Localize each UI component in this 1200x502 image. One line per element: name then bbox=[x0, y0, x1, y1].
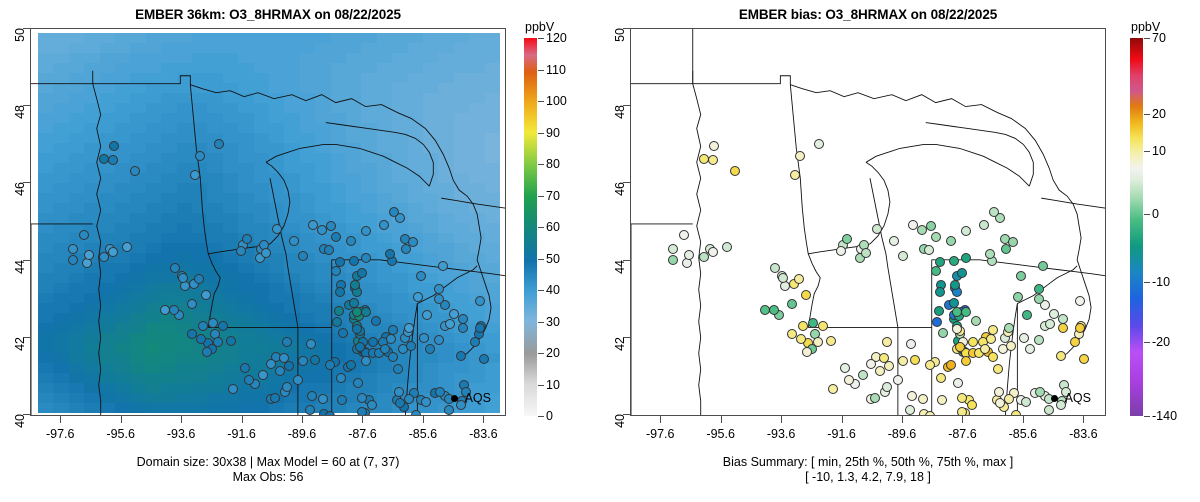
bias-site-marker bbox=[961, 307, 971, 317]
model-site-marker bbox=[355, 342, 365, 352]
model-site-marker bbox=[242, 234, 252, 244]
bias-site-marker bbox=[898, 251, 908, 261]
x-tick-label: -83.6 bbox=[1069, 427, 1098, 441]
model-site-marker bbox=[445, 319, 455, 329]
model-site-marker bbox=[352, 324, 362, 334]
x-tick-label: -91.6 bbox=[827, 427, 856, 441]
colorbar-tick-label: -20 bbox=[1152, 335, 1170, 349]
model-site-marker bbox=[289, 236, 299, 246]
model-site-marker bbox=[361, 253, 371, 263]
model-site-marker bbox=[195, 151, 205, 161]
bias-aqs-legend: AQS bbox=[1051, 391, 1091, 405]
model-site-marker bbox=[422, 310, 432, 320]
model-site-marker bbox=[352, 307, 362, 317]
model-site-marker bbox=[353, 378, 363, 388]
bias-site-marker bbox=[1004, 323, 1014, 333]
x-tick-label: -93.6 bbox=[767, 427, 796, 441]
model-site-marker bbox=[282, 337, 292, 347]
bias-site-marker bbox=[936, 373, 946, 383]
model-site-marker bbox=[458, 323, 468, 333]
colorbar-tick bbox=[538, 164, 544, 165]
bias-site-marker bbox=[910, 355, 920, 365]
model-site-marker bbox=[298, 356, 308, 366]
bias-site-marker bbox=[798, 321, 808, 331]
bias-site-marker bbox=[961, 356, 971, 366]
bias-observation-points bbox=[631, 29, 1105, 415]
x-tick bbox=[362, 416, 363, 423]
bias-site-marker bbox=[875, 366, 885, 376]
colorbar-tick-label: 80 bbox=[546, 157, 560, 171]
model-site-marker bbox=[449, 309, 459, 319]
model-site-marker bbox=[326, 221, 336, 231]
model-site-marker bbox=[336, 373, 346, 383]
model-site-marker bbox=[371, 316, 381, 326]
bias-site-marker bbox=[1006, 341, 1016, 351]
bias-site-marker bbox=[953, 378, 963, 388]
colorbar-tick-label: 0 bbox=[546, 409, 553, 423]
model-site-marker bbox=[346, 236, 356, 246]
bias-site-marker bbox=[961, 253, 971, 263]
bias-site-marker bbox=[842, 234, 852, 244]
model-site-marker bbox=[99, 154, 109, 164]
bias-site-marker bbox=[813, 337, 823, 347]
colorbar-tick bbox=[538, 101, 544, 102]
colorbar-tick-label: 100 bbox=[546, 94, 567, 108]
model-site-marker bbox=[194, 274, 204, 284]
model-site-marker bbox=[270, 393, 280, 403]
bias-site-marker bbox=[1034, 335, 1044, 345]
model-site-marker bbox=[198, 321, 208, 331]
model-site-marker bbox=[389, 207, 399, 217]
x-tick-label: -97.6 bbox=[646, 427, 675, 441]
y-tick-label: 46 bbox=[13, 182, 27, 196]
model-site-marker bbox=[337, 395, 347, 405]
bias-site-marker bbox=[730, 166, 740, 176]
bias-site-marker bbox=[907, 391, 917, 401]
x-tick bbox=[242, 416, 243, 423]
y-tick-label: 46 bbox=[613, 182, 627, 196]
bias-site-marker bbox=[1070, 337, 1080, 347]
colorbar-tick bbox=[1144, 282, 1150, 283]
model-site-marker bbox=[306, 339, 316, 349]
bias-site-marker bbox=[938, 328, 948, 338]
model-caption-line1: Domain size: 30x38 | Max Model = 60 at (… bbox=[0, 455, 536, 470]
colorbar-tick-label: 70 bbox=[1152, 31, 1166, 45]
model-site-marker bbox=[187, 299, 197, 309]
colorbar-tick-label: 20 bbox=[1152, 107, 1166, 121]
bias-site-marker bbox=[1004, 394, 1014, 404]
colorbar-tick bbox=[538, 416, 544, 417]
bias-site-marker bbox=[893, 375, 903, 385]
colorbar-tick-label: 120 bbox=[546, 31, 567, 45]
colorbar-tick bbox=[538, 353, 544, 354]
model-site-marker bbox=[357, 393, 367, 403]
colorbar-tick bbox=[1144, 114, 1150, 115]
model-site-marker bbox=[331, 266, 341, 276]
x-tick-label: -83.6 bbox=[469, 427, 498, 441]
model-site-marker bbox=[393, 364, 403, 374]
model-site-marker bbox=[434, 284, 444, 294]
bias-site-marker bbox=[870, 393, 880, 403]
model-site-marker bbox=[419, 333, 429, 343]
bias-site-marker bbox=[925, 360, 935, 370]
y-tick-label: 50 bbox=[13, 28, 27, 42]
model-site-marker bbox=[475, 323, 485, 333]
x-tick bbox=[423, 416, 424, 423]
model-site-marker bbox=[108, 247, 118, 257]
bias-site-marker bbox=[840, 363, 850, 373]
y-tick-label: 42 bbox=[613, 337, 627, 351]
model-site-marker bbox=[361, 226, 371, 236]
bias-site-marker bbox=[1049, 309, 1059, 319]
model-site-marker bbox=[361, 307, 371, 317]
bias-plot-frame[interactable]: AQS bbox=[630, 28, 1106, 416]
model-aqs-label: AQS bbox=[465, 391, 491, 405]
colorbar-tick bbox=[1144, 151, 1150, 152]
x-tick-label: -97.6 bbox=[46, 427, 75, 441]
model-site-marker bbox=[218, 321, 228, 331]
model-site-marker bbox=[361, 356, 371, 366]
bias-site-marker bbox=[708, 247, 718, 257]
bias-site-marker bbox=[1034, 284, 1044, 294]
bias-site-marker bbox=[818, 321, 828, 331]
model-site-marker bbox=[421, 397, 431, 407]
model-site-marker bbox=[201, 290, 211, 300]
model-observation-points bbox=[31, 29, 505, 415]
model-site-marker bbox=[404, 323, 414, 333]
colorbar-tick-label: 60 bbox=[546, 220, 560, 234]
model-site-marker bbox=[84, 250, 94, 260]
bias-site-marker bbox=[968, 337, 978, 347]
colorbar-tick-label: 70 bbox=[546, 189, 560, 203]
x-tick bbox=[1023, 416, 1024, 423]
bias-site-marker bbox=[950, 280, 960, 290]
bias-site-marker bbox=[778, 273, 788, 283]
bias-site-marker bbox=[985, 249, 995, 259]
model-site-marker bbox=[346, 360, 356, 370]
x-tick-label: -95.6 bbox=[106, 427, 135, 441]
bias-site-marker bbox=[699, 154, 709, 164]
bias-site-marker bbox=[1035, 387, 1045, 397]
colorbar-tick-label: 0 bbox=[1152, 207, 1159, 221]
model-site-marker bbox=[213, 337, 223, 347]
colorbar-tick-label: -140 bbox=[1152, 409, 1177, 423]
bias-site-marker bbox=[932, 317, 942, 327]
model-site-marker bbox=[334, 306, 344, 316]
bias-site-marker bbox=[769, 305, 779, 315]
bias-site-marker bbox=[1079, 354, 1089, 364]
x-tick-label: -89.6 bbox=[288, 427, 317, 441]
bias-site-marker bbox=[1034, 294, 1044, 304]
model-site-marker bbox=[244, 375, 254, 385]
bias-aqs-label: AQS bbox=[1065, 391, 1091, 405]
model-site-marker bbox=[214, 139, 224, 149]
bias-site-marker bbox=[898, 356, 908, 366]
model-site-marker bbox=[470, 337, 480, 347]
colorbar-tick bbox=[1144, 416, 1150, 417]
colorbar-tick bbox=[1144, 214, 1150, 215]
bias-site-marker bbox=[802, 347, 812, 357]
panel-model: EMBER 36km: O3_8HRMAX on 08/22/2025 bbox=[0, 0, 600, 502]
model-site-marker bbox=[282, 382, 292, 392]
colorbar-tick-label: 30 bbox=[546, 315, 560, 329]
model-site-marker bbox=[335, 287, 345, 297]
bias-site-marker bbox=[814, 139, 824, 149]
colorbar-tick bbox=[538, 133, 544, 134]
bias-site-marker bbox=[931, 266, 941, 276]
panel-bias: EMBER bias: O3_8HRMAX on 08/22/2025 bbox=[600, 0, 1200, 502]
model-site-marker bbox=[456, 351, 466, 361]
model-site-marker bbox=[368, 337, 378, 347]
model-site-marker bbox=[406, 341, 416, 351]
bias-site-marker bbox=[924, 245, 934, 255]
x-tick bbox=[842, 416, 843, 423]
y-tick-label: 44 bbox=[613, 260, 627, 274]
model-site-marker bbox=[258, 370, 268, 380]
bias-site-marker bbox=[1016, 271, 1026, 281]
x-tick bbox=[483, 416, 484, 423]
model-site-marker bbox=[293, 375, 303, 385]
bias-site-marker bbox=[955, 342, 965, 352]
aqs-dot-icon bbox=[1051, 395, 1058, 402]
colorbar-tick-label: 20 bbox=[546, 346, 560, 360]
x-tick bbox=[721, 416, 722, 423]
bias-site-marker bbox=[796, 334, 806, 344]
model-site-marker bbox=[68, 255, 78, 265]
bias-site-marker bbox=[1075, 296, 1085, 306]
bias-site-marker bbox=[760, 305, 770, 315]
model-site-marker bbox=[395, 398, 405, 408]
y-tick-label: 40 bbox=[13, 414, 27, 428]
model-site-marker bbox=[404, 394, 414, 404]
model-colorbar-gradient bbox=[524, 38, 537, 416]
x-tick-label: -85.6 bbox=[409, 427, 438, 441]
model-site-marker bbox=[240, 363, 250, 373]
model-site-marker bbox=[335, 257, 345, 267]
model-site-marker bbox=[275, 366, 285, 376]
model-site-marker bbox=[357, 407, 367, 416]
colorbar-tick bbox=[538, 38, 544, 39]
model-site-marker bbox=[434, 335, 444, 345]
bias-site-marker bbox=[794, 274, 804, 284]
bias-site-marker bbox=[989, 207, 999, 217]
bias-site-marker bbox=[988, 352, 998, 362]
model-site-marker bbox=[318, 394, 328, 404]
bias-site-marker bbox=[795, 151, 805, 161]
y-tick-label: 44 bbox=[13, 260, 27, 274]
bias-site-marker bbox=[770, 263, 780, 273]
bias-site-marker bbox=[905, 405, 915, 415]
x-tick bbox=[1083, 416, 1084, 423]
bias-caption-line2: [ -10, 1.3, 4.2, 7.9, 18 ] bbox=[600, 470, 1136, 485]
x-tick bbox=[302, 416, 303, 423]
model-x-axis: -97.6-95.6-93.6-91.6-89.6-87.6-85.6-83.6 bbox=[30, 416, 506, 446]
bias-panel-title: EMBER bias: O3_8HRMAX on 08/22/2025 bbox=[600, 7, 1136, 22]
y-tick-label: 50 bbox=[613, 28, 627, 42]
bias-site-marker bbox=[1021, 397, 1031, 407]
bias-site-marker bbox=[826, 336, 836, 346]
bias-site-marker bbox=[931, 232, 941, 242]
bias-site-marker bbox=[828, 384, 838, 394]
model-site-marker bbox=[475, 296, 485, 306]
colorbar-tick-label: 90 bbox=[546, 126, 560, 140]
bias-colorbar-gradient bbox=[1130, 38, 1143, 416]
bias-site-marker bbox=[787, 299, 797, 309]
x-tick-label: -95.6 bbox=[706, 427, 735, 441]
bias-site-marker bbox=[668, 255, 678, 265]
bias-site-marker bbox=[961, 226, 971, 236]
bias-site-marker bbox=[1025, 344, 1035, 354]
bias-site-marker bbox=[946, 236, 956, 246]
model-site-marker bbox=[349, 256, 359, 266]
bias-site-marker bbox=[679, 230, 689, 240]
bias-site-marker bbox=[1013, 292, 1023, 302]
bias-site-marker bbox=[872, 224, 882, 234]
x-tick-label: -85.6 bbox=[1009, 427, 1038, 441]
colorbar-tick-label: -10 bbox=[1152, 275, 1170, 289]
model-site-marker bbox=[109, 141, 119, 151]
model-y-axis: 404244464850 bbox=[0, 28, 30, 416]
model-site-marker bbox=[170, 263, 180, 273]
model-site-marker bbox=[425, 344, 435, 354]
bias-site-marker bbox=[684, 250, 694, 260]
colorbar-tick bbox=[1144, 38, 1150, 39]
colorbar-tick-label: 10 bbox=[546, 378, 560, 392]
bias-site-marker bbox=[934, 306, 944, 316]
bias-site-marker bbox=[882, 382, 892, 392]
bias-caption: Bias Summary: [ min, 25th %, 50th %, 75t… bbox=[600, 455, 1136, 485]
bias-site-marker bbox=[1058, 314, 1068, 324]
model-site-marker bbox=[435, 387, 445, 397]
bias-site-marker bbox=[935, 257, 945, 267]
model-site-marker bbox=[357, 268, 367, 278]
bias-site-marker bbox=[1008, 237, 1018, 247]
x-tick-label: -91.6 bbox=[227, 427, 256, 441]
x-tick bbox=[60, 416, 61, 423]
y-tick-label: 42 bbox=[13, 337, 27, 351]
bias-site-marker bbox=[1022, 310, 1032, 320]
bias-site-marker bbox=[949, 256, 959, 266]
bias-site-marker bbox=[937, 395, 947, 405]
model-site-marker bbox=[261, 248, 271, 258]
model-site-marker bbox=[394, 387, 404, 397]
colorbar-tick bbox=[538, 385, 544, 386]
model-site-marker bbox=[202, 347, 212, 357]
colorbar-tick bbox=[538, 70, 544, 71]
model-site-marker bbox=[331, 232, 341, 242]
x-tick-label: -93.6 bbox=[167, 427, 196, 441]
x-tick-label: -89.6 bbox=[888, 427, 917, 441]
model-site-marker bbox=[130, 166, 140, 176]
bias-site-marker bbox=[722, 242, 732, 252]
model-site-marker bbox=[160, 305, 170, 315]
x-tick-label: -87.6 bbox=[348, 427, 377, 441]
x-tick bbox=[660, 416, 661, 423]
bias-site-marker bbox=[935, 287, 945, 297]
model-site-marker bbox=[332, 317, 342, 327]
bias-site-marker bbox=[995, 398, 1005, 408]
bias-site-marker bbox=[889, 236, 899, 246]
model-site-marker bbox=[122, 242, 132, 252]
bias-site-marker bbox=[926, 221, 936, 231]
model-site-marker bbox=[226, 336, 236, 346]
colorbar-tick bbox=[538, 259, 544, 260]
bias-site-marker bbox=[906, 339, 916, 349]
model-aqs-legend: AQS bbox=[451, 391, 491, 405]
model-site-marker bbox=[272, 224, 282, 234]
model-site-marker bbox=[298, 251, 308, 261]
y-tick-label: 48 bbox=[613, 105, 627, 119]
model-site-marker bbox=[196, 334, 206, 344]
model-site-marker bbox=[228, 384, 238, 394]
bias-site-marker bbox=[993, 364, 1003, 374]
model-site-marker bbox=[190, 170, 200, 180]
model-site-marker bbox=[178, 273, 188, 283]
bias-site-marker bbox=[957, 268, 967, 278]
bias-y-axis: 404244464850 bbox=[600, 28, 630, 416]
model-caption: Domain size: 30x38 | Max Model = 60 at (… bbox=[0, 455, 536, 485]
bias-site-marker bbox=[971, 316, 981, 326]
bias-site-marker bbox=[1075, 323, 1085, 333]
colorbar-tick-label: 50 bbox=[546, 252, 560, 266]
model-site-marker bbox=[434, 294, 444, 304]
model-site-marker bbox=[416, 271, 426, 281]
bias-site-marker bbox=[709, 141, 719, 151]
bias-site-marker bbox=[952, 324, 962, 334]
x-tick-label: -87.6 bbox=[948, 427, 977, 441]
bias-site-marker bbox=[952, 307, 962, 317]
model-site-marker bbox=[236, 246, 246, 256]
model-caption-line2: Max Obs: 56 bbox=[0, 470, 536, 485]
aqs-dot-icon bbox=[451, 395, 458, 402]
bias-site-marker bbox=[979, 220, 989, 230]
model-site-marker bbox=[388, 352, 398, 362]
bias-x-axis: -97.6-95.6-93.6-91.6-89.6-87.6-85.6-83.6 bbox=[630, 416, 1106, 446]
bias-site-marker bbox=[918, 394, 928, 404]
model-site-marker bbox=[305, 405, 315, 415]
x-tick bbox=[781, 416, 782, 423]
model-site-marker bbox=[413, 292, 423, 302]
x-tick bbox=[181, 416, 182, 423]
bias-site-marker bbox=[946, 360, 956, 370]
bias-site-marker bbox=[861, 248, 871, 258]
model-site-marker bbox=[310, 355, 320, 365]
colorbar-tick bbox=[538, 322, 544, 323]
bias-site-marker bbox=[708, 155, 718, 165]
model-site-marker bbox=[385, 249, 395, 259]
model-site-marker bbox=[324, 245, 334, 255]
bias-site-marker bbox=[836, 246, 846, 256]
x-tick bbox=[902, 416, 903, 423]
bias-site-marker bbox=[988, 325, 998, 335]
x-tick bbox=[121, 416, 122, 423]
model-plot-frame[interactable]: AQS bbox=[30, 28, 506, 416]
bias-site-marker bbox=[1044, 405, 1054, 415]
bias-site-marker bbox=[957, 393, 967, 403]
model-site-marker bbox=[479, 354, 489, 364]
model-site-marker bbox=[68, 244, 78, 254]
model-site-marker bbox=[338, 328, 348, 338]
bias-site-marker bbox=[882, 337, 892, 347]
y-tick-label: 40 bbox=[613, 414, 627, 428]
bias-site-marker bbox=[790, 170, 800, 180]
model-panel-title: EMBER 36km: O3_8HRMAX on 08/22/2025 bbox=[0, 7, 536, 22]
colorbar-tick bbox=[1144, 342, 1150, 343]
bias-site-marker bbox=[1045, 319, 1055, 329]
bias-site-marker bbox=[801, 290, 811, 300]
model-site-marker bbox=[79, 230, 89, 240]
model-site-marker bbox=[325, 360, 335, 370]
